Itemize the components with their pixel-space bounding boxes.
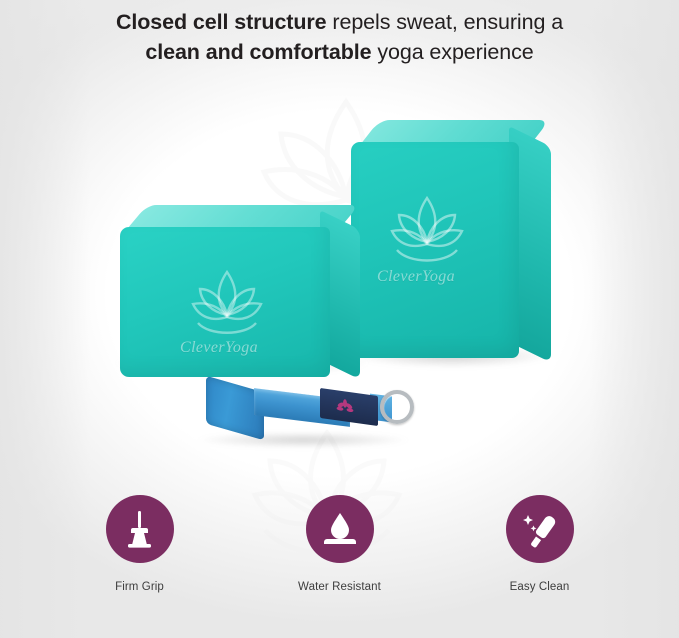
water-resistant-icon [321,510,359,548]
headline-line-2-light: yoga experience [371,40,533,64]
yoga-block-front: CleverYoga [120,205,360,380]
yoga-strap [200,372,415,442]
feature-easy-clean-label: Easy Clean [510,581,570,593]
headline-line-1: Closed cell structure repels sweat, ensu… [0,8,679,38]
yoga-block-rear: CleverYoga [351,120,551,358]
rear-block-brand-text: CleverYoga [377,268,455,286]
easy-clean-icon [521,510,559,548]
rear-block-front-face: CleverYoga [351,142,519,358]
front-block-brand-text: CleverYoga [180,339,258,357]
strap-metal-ring [380,390,414,424]
headline-line-2: clean and comfortable yoga experience [0,38,679,68]
feature-water-resistant-label: Water Resistant [298,581,381,593]
strap-lotus-icon [336,397,354,416]
firm-grip-icon [123,509,157,549]
front-block-front-face: CleverYoga [120,227,330,377]
easy-clean-badge [506,495,574,563]
feature-firm-grip: Firm Grip [80,495,200,593]
product-feature-image: Closed cell structure repels sweat, ensu… [0,0,679,638]
headline-line-2-bold: clean and comfortable [145,40,371,64]
feature-list: Firm Grip Water Resistant [0,495,679,593]
feature-water-resistant: Water Resistant [280,495,400,593]
rear-block-lotus-emboss-icon [381,190,473,268]
headline-line-1-light: repels sweat, ensuring a [327,10,564,34]
headline-line-1-bold: Closed cell structure [116,10,327,34]
feature-easy-clean: Easy Clean [480,495,600,593]
front-block-lotus-emboss-icon [182,265,272,339]
firm-grip-badge [106,495,174,563]
headline: Closed cell structure repels sweat, ensu… [0,8,679,67]
feature-firm-grip-label: Firm Grip [115,581,164,593]
water-resistant-badge [306,495,374,563]
